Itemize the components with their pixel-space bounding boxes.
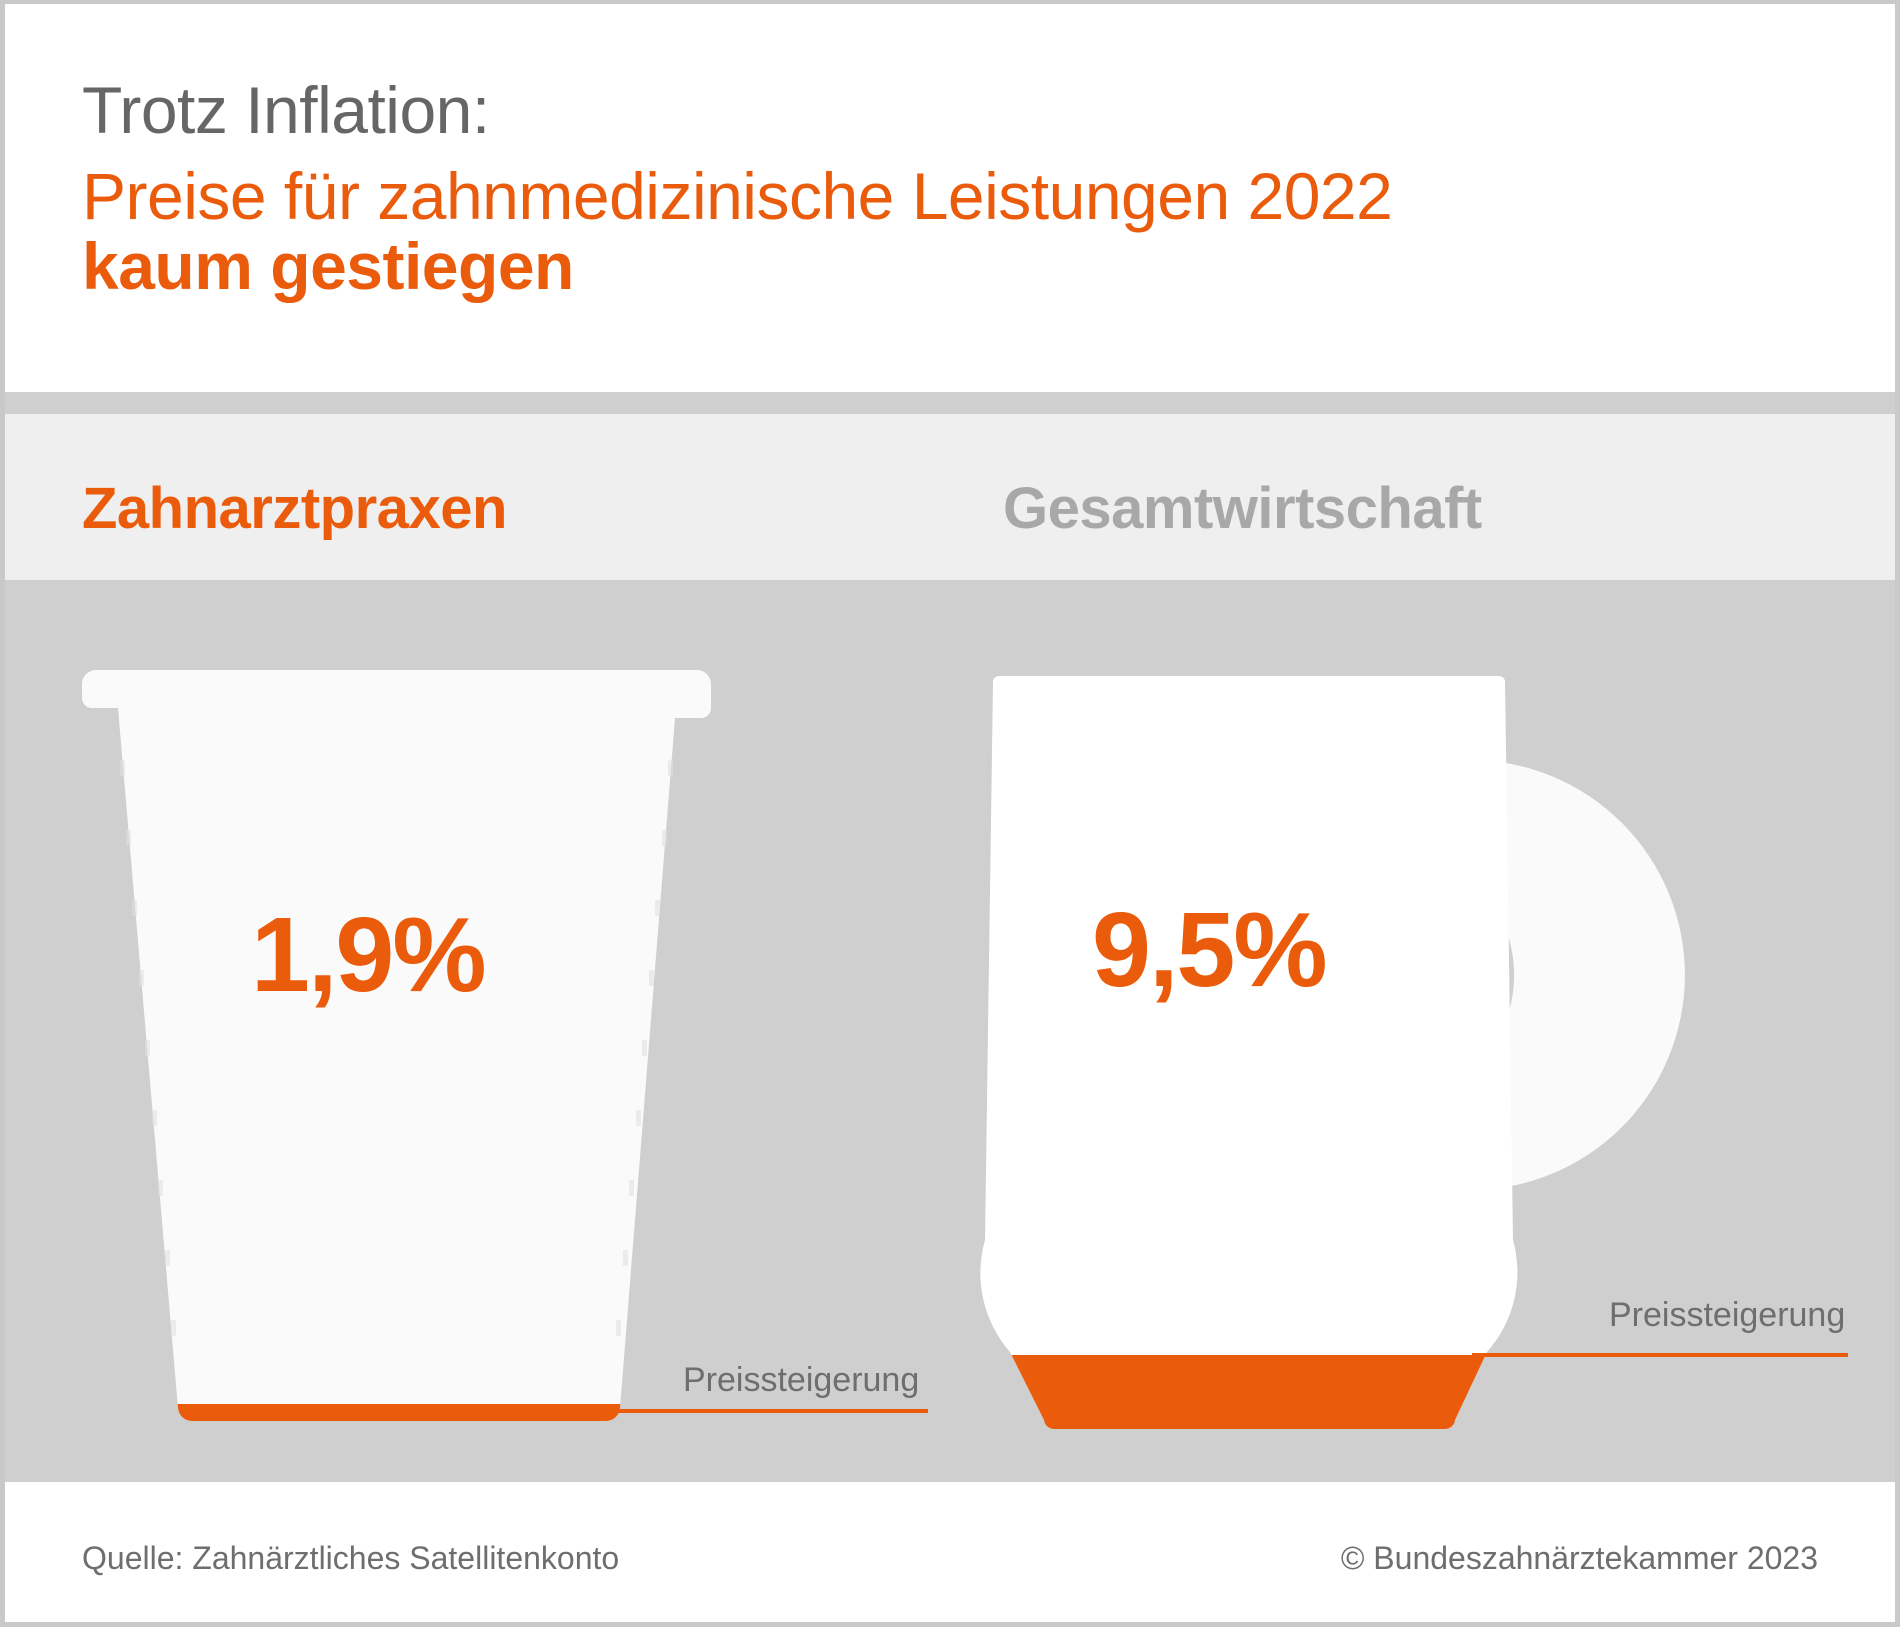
band-divider-top	[5, 392, 1895, 414]
title-main-line-2: kaum gestiegen	[82, 228, 574, 304]
chart-plot-area	[5, 580, 1895, 1482]
footer-copyright-text: © Bundeszahnärztekammer 2023	[1341, 1540, 1818, 1577]
title-block: Trotz Inflation: Preise für zahnmedizini…	[0, 0, 1900, 392]
frame-border-right	[1895, 0, 1900, 1627]
infographic-canvas: Trotz Inflation: Preise für zahnmedizini…	[0, 0, 1900, 1627]
frame-border-top	[0, 0, 1900, 4]
title-main-line-1: Preise für zahnmedizinische Leistungen 2…	[82, 158, 1392, 234]
callout-label-right: Preissteigerung	[1609, 1296, 1845, 1335]
frame-border-left	[0, 0, 5, 1627]
callout-label-left: Preissteigerung	[683, 1361, 919, 1400]
value-label-gesamtwirtschaft: 9,5%	[1092, 890, 1326, 1011]
title-eyebrow: Trotz Inflation:	[82, 72, 490, 148]
column-header-zahnarztpraxen: Zahnarztpraxen	[82, 475, 507, 542]
column-header-gesamtwirtschaft: Gesamtwirtschaft	[1003, 475, 1482, 542]
footer-source-text: Quelle: Zahnärztliches Satellitenkonto	[82, 1540, 619, 1577]
frame-border-bottom	[0, 1622, 1900, 1627]
value-label-zahnarztpraxen: 1,9%	[251, 895, 485, 1016]
